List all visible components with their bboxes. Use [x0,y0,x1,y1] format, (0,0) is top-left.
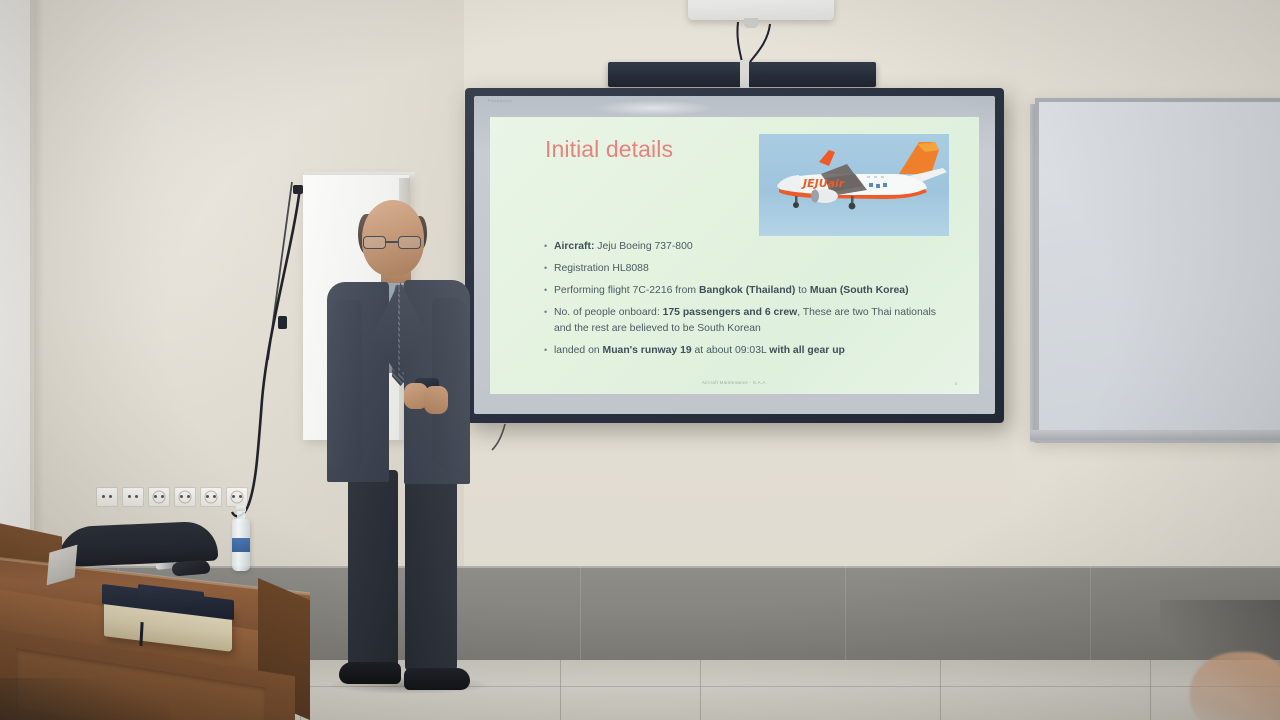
list-item: Aircraft: Jeju Boeing 737-800 [543,239,955,255]
slide-page-number: 4 [954,381,957,386]
trouser-leg-right [405,470,457,672]
eyeglass-lens-right [398,236,421,249]
slide-footer: Aircraft Maintenance - S.A.A. [490,380,979,385]
svg-text:JEJUair: JEJUair [801,177,845,190]
ceiling-mounted-unit [688,0,834,20]
interactive-display[interactable]: Panasonic Initial details [465,88,1004,423]
list-item: Registration HL8088 [543,261,955,277]
whiteboard[interactable] [1035,98,1280,443]
display-inner-frame: Panasonic Initial details [474,96,995,414]
slide-bullet-list: Aircraft: Jeju Boeing 737-800 Registrati… [543,239,955,365]
photo-scene: Panasonic Initial details [0,0,1280,720]
power-outlet[interactable] [148,487,170,507]
shoe-right [404,668,470,690]
eyeglasses [363,236,421,249]
slide-title: Initial details [545,136,673,163]
display-brand-label: Panasonic [488,98,512,103]
power-outlet[interactable] [200,487,222,507]
list-item: landed on Muan's runway 19 at about 09:0… [543,343,955,359]
list-item: Performing flight 7C-2216 from Bangkok (… [543,283,955,299]
wall-corner-shadow [30,0,44,580]
foreground-hand [1190,652,1280,720]
power-outlet[interactable] [226,487,248,507]
left-wall-panel [0,0,34,560]
presentation-slide: Initial details [490,117,979,394]
jeju-air-aircraft-photo: JEJUair [759,134,949,236]
power-outlet[interactable] [122,487,144,507]
shoe-left [339,662,401,684]
eyeglass-bridge [386,241,398,243]
ceiling-unit-knob [744,18,758,28]
foreground-shadow-left [0,678,170,720]
power-outlet[interactable] [96,487,118,507]
whiteboard-tray [1030,430,1280,440]
list-item: No. of people onboard: 175 passengers an… [543,305,955,338]
trouser-leg-left [348,470,398,670]
power-outlet[interactable] [174,487,196,507]
bottle-label [232,538,250,552]
hand-right [424,386,448,414]
wall-outlet-strip[interactable] [96,487,248,507]
screen-glare [594,100,714,116]
arm-left [328,300,362,468]
eyeglass-lens-left [363,236,386,249]
soundbar-cable-clip [740,60,749,90]
